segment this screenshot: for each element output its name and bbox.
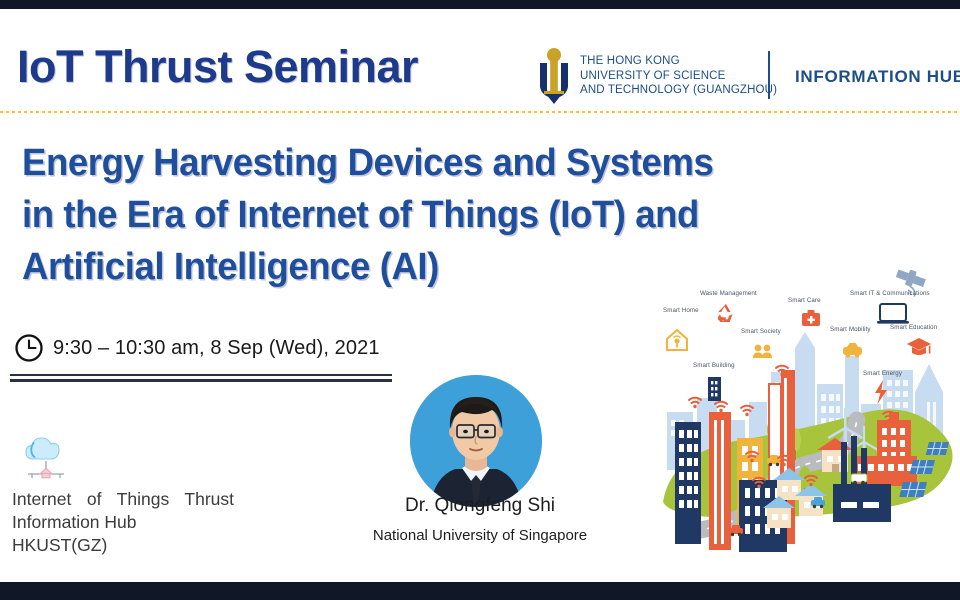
- speaker-photo: [410, 375, 542, 507]
- city-label-smart-society: Smart Society: [741, 328, 781, 335]
- seminar-series-title: IoT Thrust Seminar: [17, 41, 418, 93]
- hkust-logo-lockup: THE HONG KONG UNIVERSITY OF SCIENCE AND …: [537, 45, 777, 107]
- section-double-rule: [10, 374, 392, 383]
- smart-home-icon: [667, 330, 687, 350]
- graduation-cap-icon: [907, 338, 931, 355]
- hkust-emblem-icon: [537, 47, 571, 105]
- organizer-line-1: Internet of Things Thrust: [12, 488, 234, 511]
- talk-title-line-1: Energy Harvesting Devices and Systems: [22, 137, 867, 189]
- tower-orange: [709, 412, 731, 550]
- hkust-wordmark-line-2: UNIVERSITY OF SCIENCE: [580, 69, 777, 84]
- seminar-poster: IoT Thrust Seminar THE HONG KONG UNIVERS…: [0, 0, 960, 600]
- poster-header: IoT Thrust Seminar THE HONG KONG UNIVERS…: [0, 9, 960, 112]
- speaker-name: Dr. Qiongfeng Shi: [330, 495, 630, 517]
- datetime-text: 9:30 – 10:30 am, 8 Sep (Wed), 2021: [53, 337, 380, 360]
- city-label-smart-mobility: Smart Mobility: [830, 326, 871, 333]
- laptop-icon: [877, 304, 909, 324]
- smart-building-icon: [708, 377, 721, 401]
- organizer-block: Internet of Things Thrust Information Hu…: [12, 488, 322, 557]
- car-icon: [843, 343, 862, 358]
- people-icon: [753, 345, 772, 358]
- tower-navy-left: [675, 422, 701, 544]
- smart-city-illustration: Smart Home Waste Management Smart Care S…: [645, 252, 960, 572]
- gold-dotted-rule: [0, 111, 960, 113]
- city-label-smart-building: Smart Building: [693, 362, 735, 369]
- city-label-smart-home: Smart Home: [663, 306, 703, 315]
- datetime-row: 9:30 – 10:30 am, 8 Sep (Wed), 2021: [14, 333, 380, 363]
- top-letterbox-bar: [0, 0, 960, 9]
- hkust-wordmark: THE HONG KONG UNIVERSITY OF SCIENCE AND …: [580, 54, 777, 98]
- hkust-wordmark-line-3: AND TECHNOLOGY (GUANGZHOU): [580, 83, 777, 98]
- bottom-letterbox-bar: [0, 582, 960, 600]
- organizer-line-2: Information Hub: [12, 511, 322, 534]
- hkust-wordmark-line-1: THE HONG KONG: [580, 54, 777, 69]
- recycle-icon: [718, 304, 733, 322]
- clock-icon: [14, 333, 44, 363]
- information-hub-label: INFORMATION HUB: [795, 67, 960, 87]
- city-label-smart-education: Smart Education: [890, 324, 937, 331]
- city-label-smart-energy: Smart Energy: [863, 370, 902, 377]
- medical-case-icon: [802, 310, 820, 326]
- cloud-network-icon: [18, 432, 74, 484]
- city-label-smart-it: Smart IT & Communications: [850, 290, 930, 297]
- city-label-smart-care: Smart Care: [788, 297, 821, 304]
- organizer-line-3: HKUST(GZ): [12, 534, 322, 557]
- city-label-waste-management: Waste Management: [700, 290, 757, 297]
- talk-title-line-2: in the Era of Internet of Things (IoT) a…: [22, 189, 867, 241]
- header-divider: [768, 51, 770, 99]
- speaker-affiliation: National University of Singapore: [330, 527, 630, 544]
